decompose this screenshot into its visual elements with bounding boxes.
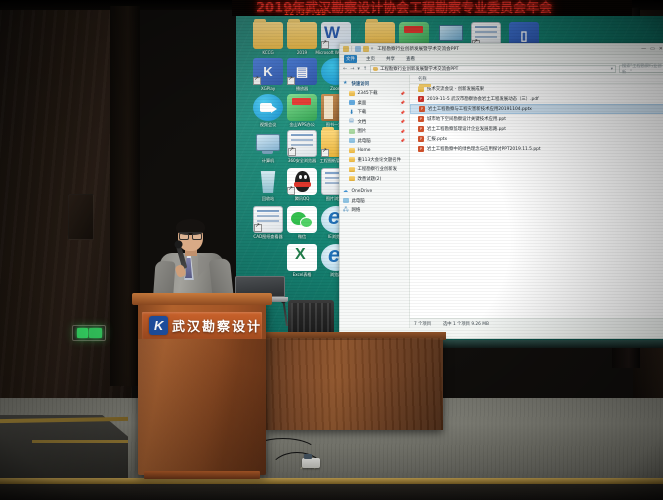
front-table: [266, 338, 443, 430]
powerpoint-icon: P: [418, 116, 424, 122]
wall-speaker: [68, 194, 94, 240]
shortcut-arrow-icon: [287, 77, 295, 85]
powerpoint-icon: P: [418, 136, 424, 142]
podium-base-trim: [144, 471, 260, 479]
nav-item-home[interactable]: Home: [343, 146, 409, 156]
up-arrow-icon[interactable]: ↑: [363, 66, 367, 72]
nav-item-onedrive[interactable]: ☁ OneDrive: [343, 187, 409, 197]
file-name: 技术交流会议 - 创新发展成果: [427, 86, 484, 92]
pin-icon[interactable]: 📌: [400, 91, 405, 96]
stage-front-face: [0, 484, 663, 500]
nav-label: 图片: [358, 128, 367, 134]
file-name: 岩土工程勘察与工程灾害新技术应用20191104.pptx: [428, 106, 532, 112]
pc-icon: [343, 198, 349, 203]
file-name: 岩土工程勘察中的绿色理念与应用探讨PPT2019.11.5.ppt: [427, 146, 541, 152]
powerpoint-icon: P: [419, 106, 425, 112]
quick-access-folder-icon[interactable]: [343, 46, 349, 52]
nav-label: 工程勘察行业创新发: [358, 166, 398, 172]
podium-name-plate: 武汉勘察设计: [142, 312, 262, 339]
star-icon: ★: [343, 81, 349, 86]
folder-icon: [349, 91, 355, 96]
shortcut-arrow-icon: [321, 149, 329, 157]
nav-label: 此电脑: [358, 138, 371, 144]
nav-label: 2345下载: [358, 90, 378, 96]
podium-top-surface: [132, 293, 272, 305]
qat-separator: |: [351, 46, 353, 52]
address-path-box[interactable]: 工程勘察行业创新发展暨学术交流会PPT ▾: [370, 65, 616, 73]
file-row[interactable]: 技术交流会议 - 创新发展成果: [410, 84, 663, 94]
explorer-status-bar: 7 个项目 选中 1 个项目 9.26 MB: [410, 318, 663, 328]
qat-dropdown-icon[interactable]: ▾: [371, 46, 374, 52]
pdf-icon: P: [418, 96, 424, 102]
nav-label: 重113大会论文题名件: [358, 157, 402, 163]
nav-item-improve-folder[interactable]: 改善试题(2): [343, 174, 409, 184]
powerpoint-icon: P: [418, 146, 424, 152]
qq-eye-left: [299, 175, 302, 179]
nav-item-desktop[interactable]: 桌面 📌: [343, 98, 409, 108]
explorer-address-bar[interactable]: ← → ▾ ↑ 工程勘察行业创新发展暨学术交流会PPT ▾ 搜索"工程勘察行业创…: [340, 64, 663, 75]
tab-view[interactable]: 查看: [404, 55, 417, 63]
window-controls[interactable]: — ▭ ✕: [641, 46, 663, 52]
address-folder-icon: [373, 67, 378, 71]
column-header-name[interactable]: 名称: [410, 75, 663, 84]
pin-icon[interactable]: 📌: [400, 138, 405, 143]
explorer-file-list[interactable]: 名称 技术交流会议 - 创新发展成果 P 2019-11-5 武汉市勘察协会岩土…: [410, 75, 663, 328]
quick-access-new-folder-icon[interactable]: [363, 46, 369, 52]
table-top-surface: [263, 332, 446, 340]
file-name: 岩土工程勘察监理设计企业发展思路.ppt: [427, 126, 506, 132]
search-placeholder-text: 搜索"工程勘察行业创新...": [622, 63, 662, 75]
nav-item-2345download[interactable]: 2345下载 📌: [343, 89, 409, 99]
nav-label: OneDrive: [352, 189, 373, 194]
exit-sign-door-glyph: [89, 328, 102, 338]
tab-home[interactable]: 主页: [364, 55, 377, 63]
quick-access-properties-icon[interactable]: [355, 46, 361, 52]
nav-label: 文档: [358, 119, 367, 125]
led-banner-clock: 12:37:15: [284, 8, 327, 16]
explorer-ribbon-tabs[interactable]: 文件 主页 共享 查看: [340, 55, 663, 64]
nav-label: 网络: [352, 207, 361, 213]
shortcut-arrow-icon: [321, 41, 329, 49]
left-column: [110, 6, 140, 386]
power-strip: [302, 458, 320, 468]
status-item-count: 7 个项目: [414, 321, 431, 327]
nav-label: 桌面: [358, 100, 367, 106]
led-banner: 2019年武汉勘察设计协会工程勘察专业委员会年会 12:37:15: [232, 0, 632, 16]
close-icon[interactable]: ✕: [659, 46, 663, 52]
desktop-icon: [349, 100, 355, 105]
file-row[interactable]: P 汇报.pptx: [410, 134, 663, 144]
stage-step-trim-inner: [32, 440, 128, 443]
minimize-icon[interactable]: —: [641, 46, 646, 52]
pin-icon[interactable]: 📌: [400, 110, 405, 115]
nav-item-downloads[interactable]: ⬇ 下载 📌: [343, 108, 409, 118]
pin-icon[interactable]: 📌: [400, 100, 405, 105]
nav-item-documents[interactable]: ▤ 文档 📌: [343, 117, 409, 127]
file-name: 城市地下空间勘察设计关键技术应用.ppt: [427, 116, 506, 122]
led-banner-text: 2019年武汉勘察设计协会工程勘察专业委员会年会: [256, 0, 552, 16]
column-header-label: 名称: [418, 76, 427, 82]
powerpoint-icon: P: [418, 126, 424, 132]
folder-icon: [418, 86, 424, 92]
nav-item-this-pc[interactable]: 此电脑: [343, 196, 409, 206]
pin-icon[interactable]: 📌: [400, 129, 405, 134]
file-row[interactable]: P 岩土工程勘察中的绿色理念与应用探讨PPT2019.11.5.ppt: [410, 144, 663, 154]
file-row[interactable]: P 城市地下空间勘察设计关键技术应用.ppt: [410, 114, 663, 124]
exit-sign-person-glyph: [77, 328, 88, 338]
recent-dropdown-icon[interactable]: ▾: [357, 66, 360, 72]
pictures-icon: [349, 129, 355, 134]
tab-share[interactable]: 共享: [384, 55, 397, 63]
address-path-text: 工程勘察行业创新发展暨学术交流会PPT: [380, 66, 458, 72]
explorer-navigation-pane[interactable]: ★ 快速访问 2345下载 📌 桌面 📌 ⬇: [340, 75, 410, 328]
shortcut-arrow-icon: [288, 148, 296, 156]
conference-hall-photo: 2019年武汉勘察设计协会工程勘察专业委员会年会 12:37:15 KCCG 2…: [0, 0, 663, 500]
nav-item-this-pc-quick[interactable]: 此电脑 📌: [343, 136, 409, 146]
nav-label: 快速访问: [352, 81, 370, 87]
nav-item-quick-access[interactable]: ★ 快速访问: [343, 79, 409, 89]
nav-label: 改善试题(2): [358, 176, 382, 182]
shortcut-arrow-icon: [254, 224, 262, 232]
status-selection-info: 选中 1 个项目 9.26 MB: [443, 321, 489, 327]
folder-icon: [349, 148, 355, 153]
tab-file[interactable]: 文件: [344, 55, 357, 63]
file-row[interactable]: P 2019-11-5 武汉市勘察协会岩土工程发展动态（三）.pdf: [410, 94, 663, 104]
cloud-icon: ☁: [343, 189, 349, 194]
file-name: 汇报.pptx: [427, 136, 447, 142]
file-name: 2019-11-5 武汉市勘察协会岩土工程发展动态（三）.pdf: [427, 96, 539, 102]
explorer-window-title: 工程勘察行业创新发展暨学术交流会PPT: [377, 46, 459, 52]
network-icon: 🖧: [343, 208, 349, 213]
pin-icon[interactable]: 📌: [400, 119, 405, 124]
speaker-glasses: [179, 232, 202, 237]
nav-item-conference-docs[interactable]: 重113大会论文题名件: [343, 155, 409, 165]
file-row-selected[interactable]: P 岩土工程勘察与工程灾害新技术应用20191104.pptx: [410, 104, 663, 114]
shortcut-arrow-icon: [253, 77, 261, 85]
nav-item-network[interactable]: 🖧 网络: [343, 206, 409, 216]
nav-label: 下载: [358, 109, 367, 115]
explorer-search-input[interactable]: 搜索"工程勘察行业创新...": [619, 65, 663, 73]
nav-item-pictures[interactable]: 图片 📌: [343, 127, 409, 137]
nav-label: Home: [358, 148, 371, 153]
nav-label: 此电脑: [352, 198, 365, 204]
file-explorer-window[interactable]: | ▾ 工程勘察行业创新发展暨学术交流会PPT — ▭ ✕ 文件 主页 共享 查…: [339, 43, 663, 339]
shortcut-arrow-icon: [287, 187, 295, 195]
explorer-body: ★ 快速访问 2345下载 📌 桌面 📌 ⬇: [340, 75, 663, 328]
projection-screen: KCCG 2019 Microsoft Word 2010 K XGPlay ▤…: [236, 16, 663, 346]
organization-logo-icon: [149, 316, 168, 335]
speaker-podium: 武汉勘察设计: [138, 300, 266, 475]
qq-scarf: [294, 182, 311, 187]
pc-icon: [349, 138, 355, 143]
back-arrow-icon[interactable]: ←: [343, 66, 347, 72]
download-icon: ⬇: [349, 110, 355, 115]
forward-arrow-icon[interactable]: →: [350, 66, 354, 72]
nav-item-innovation-folder[interactable]: 工程勘察行业创新发: [343, 165, 409, 175]
folder-icon: [349, 167, 355, 172]
document-icon: ▤: [349, 119, 355, 124]
podium-body-shading: [138, 339, 266, 475]
folder-icon: [349, 176, 355, 181]
organization-name: 武汉勘察设计: [172, 316, 262, 335]
emergency-exit-sign: [72, 325, 106, 341]
file-row[interactable]: P 岩土工程勘察监理设计企业发展思路.ppt: [410, 124, 663, 134]
address-dropdown-icon[interactable]: ▾: [611, 67, 613, 72]
stage-step-recess: [0, 415, 128, 487]
maximize-icon[interactable]: ▭: [650, 46, 655, 52]
explorer-title-bar[interactable]: | ▾ 工程勘察行业创新发展暨学术交流会PPT — ▭ ✕: [340, 44, 663, 55]
folder-icon: [349, 157, 355, 162]
qq-eye-right: [304, 175, 307, 179]
